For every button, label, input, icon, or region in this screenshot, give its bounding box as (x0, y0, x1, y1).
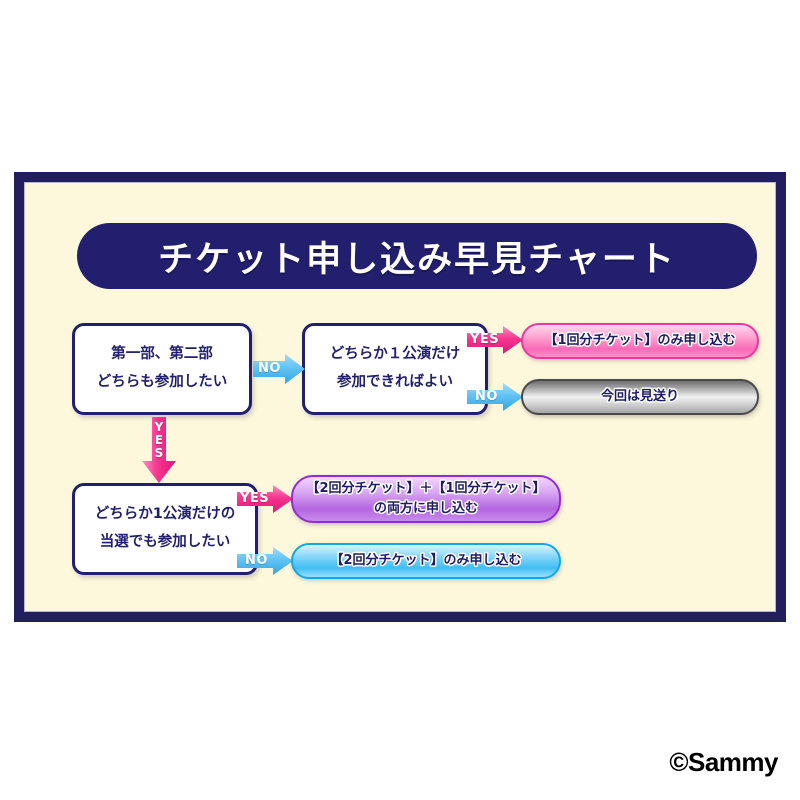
chart-frame: チケット申し込み早見チャート 第一部、第二部 どちらも参加したい どちらか１公演… (14, 172, 786, 622)
arrow-q1-no: NO (253, 353, 305, 385)
result-pill-one-ticket[interactable]: 【1回分チケット】のみ申し込む (521, 323, 759, 359)
page-title: チケット申し込み早見チャート (77, 223, 757, 289)
question-box-1-line1: 第一部、第二部 (111, 341, 213, 369)
yes-arrow-icon (141, 417, 177, 483)
arrow-q3-no: NO (237, 546, 293, 576)
question-box-2-line2: 参加できればよい (337, 369, 453, 397)
question-box-3[interactable]: どちらか1公演だけの 当選でも参加したい (72, 483, 258, 575)
no-arrow-icon (237, 546, 293, 576)
result-pill-two-ticket-label: 【2回分チケット】のみ申し込む (330, 551, 521, 571)
arrow-q3-yes: YES (237, 484, 293, 514)
question-box-1[interactable]: 第一部、第二部 どちらも参加したい (72, 323, 252, 415)
question-box-3-line1: どちらか1公演だけの (95, 501, 236, 529)
yes-arrow-icon (467, 325, 523, 355)
arrow-q2-no: NO (467, 382, 523, 412)
question-box-2[interactable]: どちらか１公演だけ 参加できればよい (302, 323, 488, 415)
no-arrow-icon (253, 353, 305, 385)
result-pill-one-ticket-label: 【1回分チケット】のみ申し込む (544, 331, 735, 351)
result-pill-skip-label: 今回は見送り (601, 387, 679, 407)
result-pill-both-tickets[interactable]: 【2回分チケット】＋【1回分チケット】 の両方に申し込む (291, 475, 561, 523)
result-pill-two-ticket[interactable]: 【2回分チケット】のみ申し込む (291, 543, 561, 579)
arrow-q1-yes: YES (141, 417, 177, 483)
page-title-text: チケット申し込み早見チャート (158, 231, 676, 282)
yes-arrow-icon (237, 484, 293, 514)
result-pill-both-tickets-line1: 【2回分チケット】＋【1回分チケット】 (306, 479, 545, 499)
result-pill-skip[interactable]: 今回は見送り (521, 379, 759, 415)
arrow-q2-yes: YES (467, 325, 523, 355)
copyright-notice: ©Sammy (669, 747, 778, 778)
question-box-1-line2: どちらも参加したい (97, 369, 228, 397)
chart-canvas: チケット申し込み早見チャート 第一部、第二部 どちらも参加したい どちらか１公演… (24, 182, 776, 612)
question-box-2-line1: どちらか１公演だけ (330, 341, 461, 369)
no-arrow-icon (467, 382, 523, 412)
question-box-3-line2: 当選でも参加したい (100, 529, 231, 557)
result-pill-both-tickets-line2: の両方に申し込む (374, 499, 478, 519)
